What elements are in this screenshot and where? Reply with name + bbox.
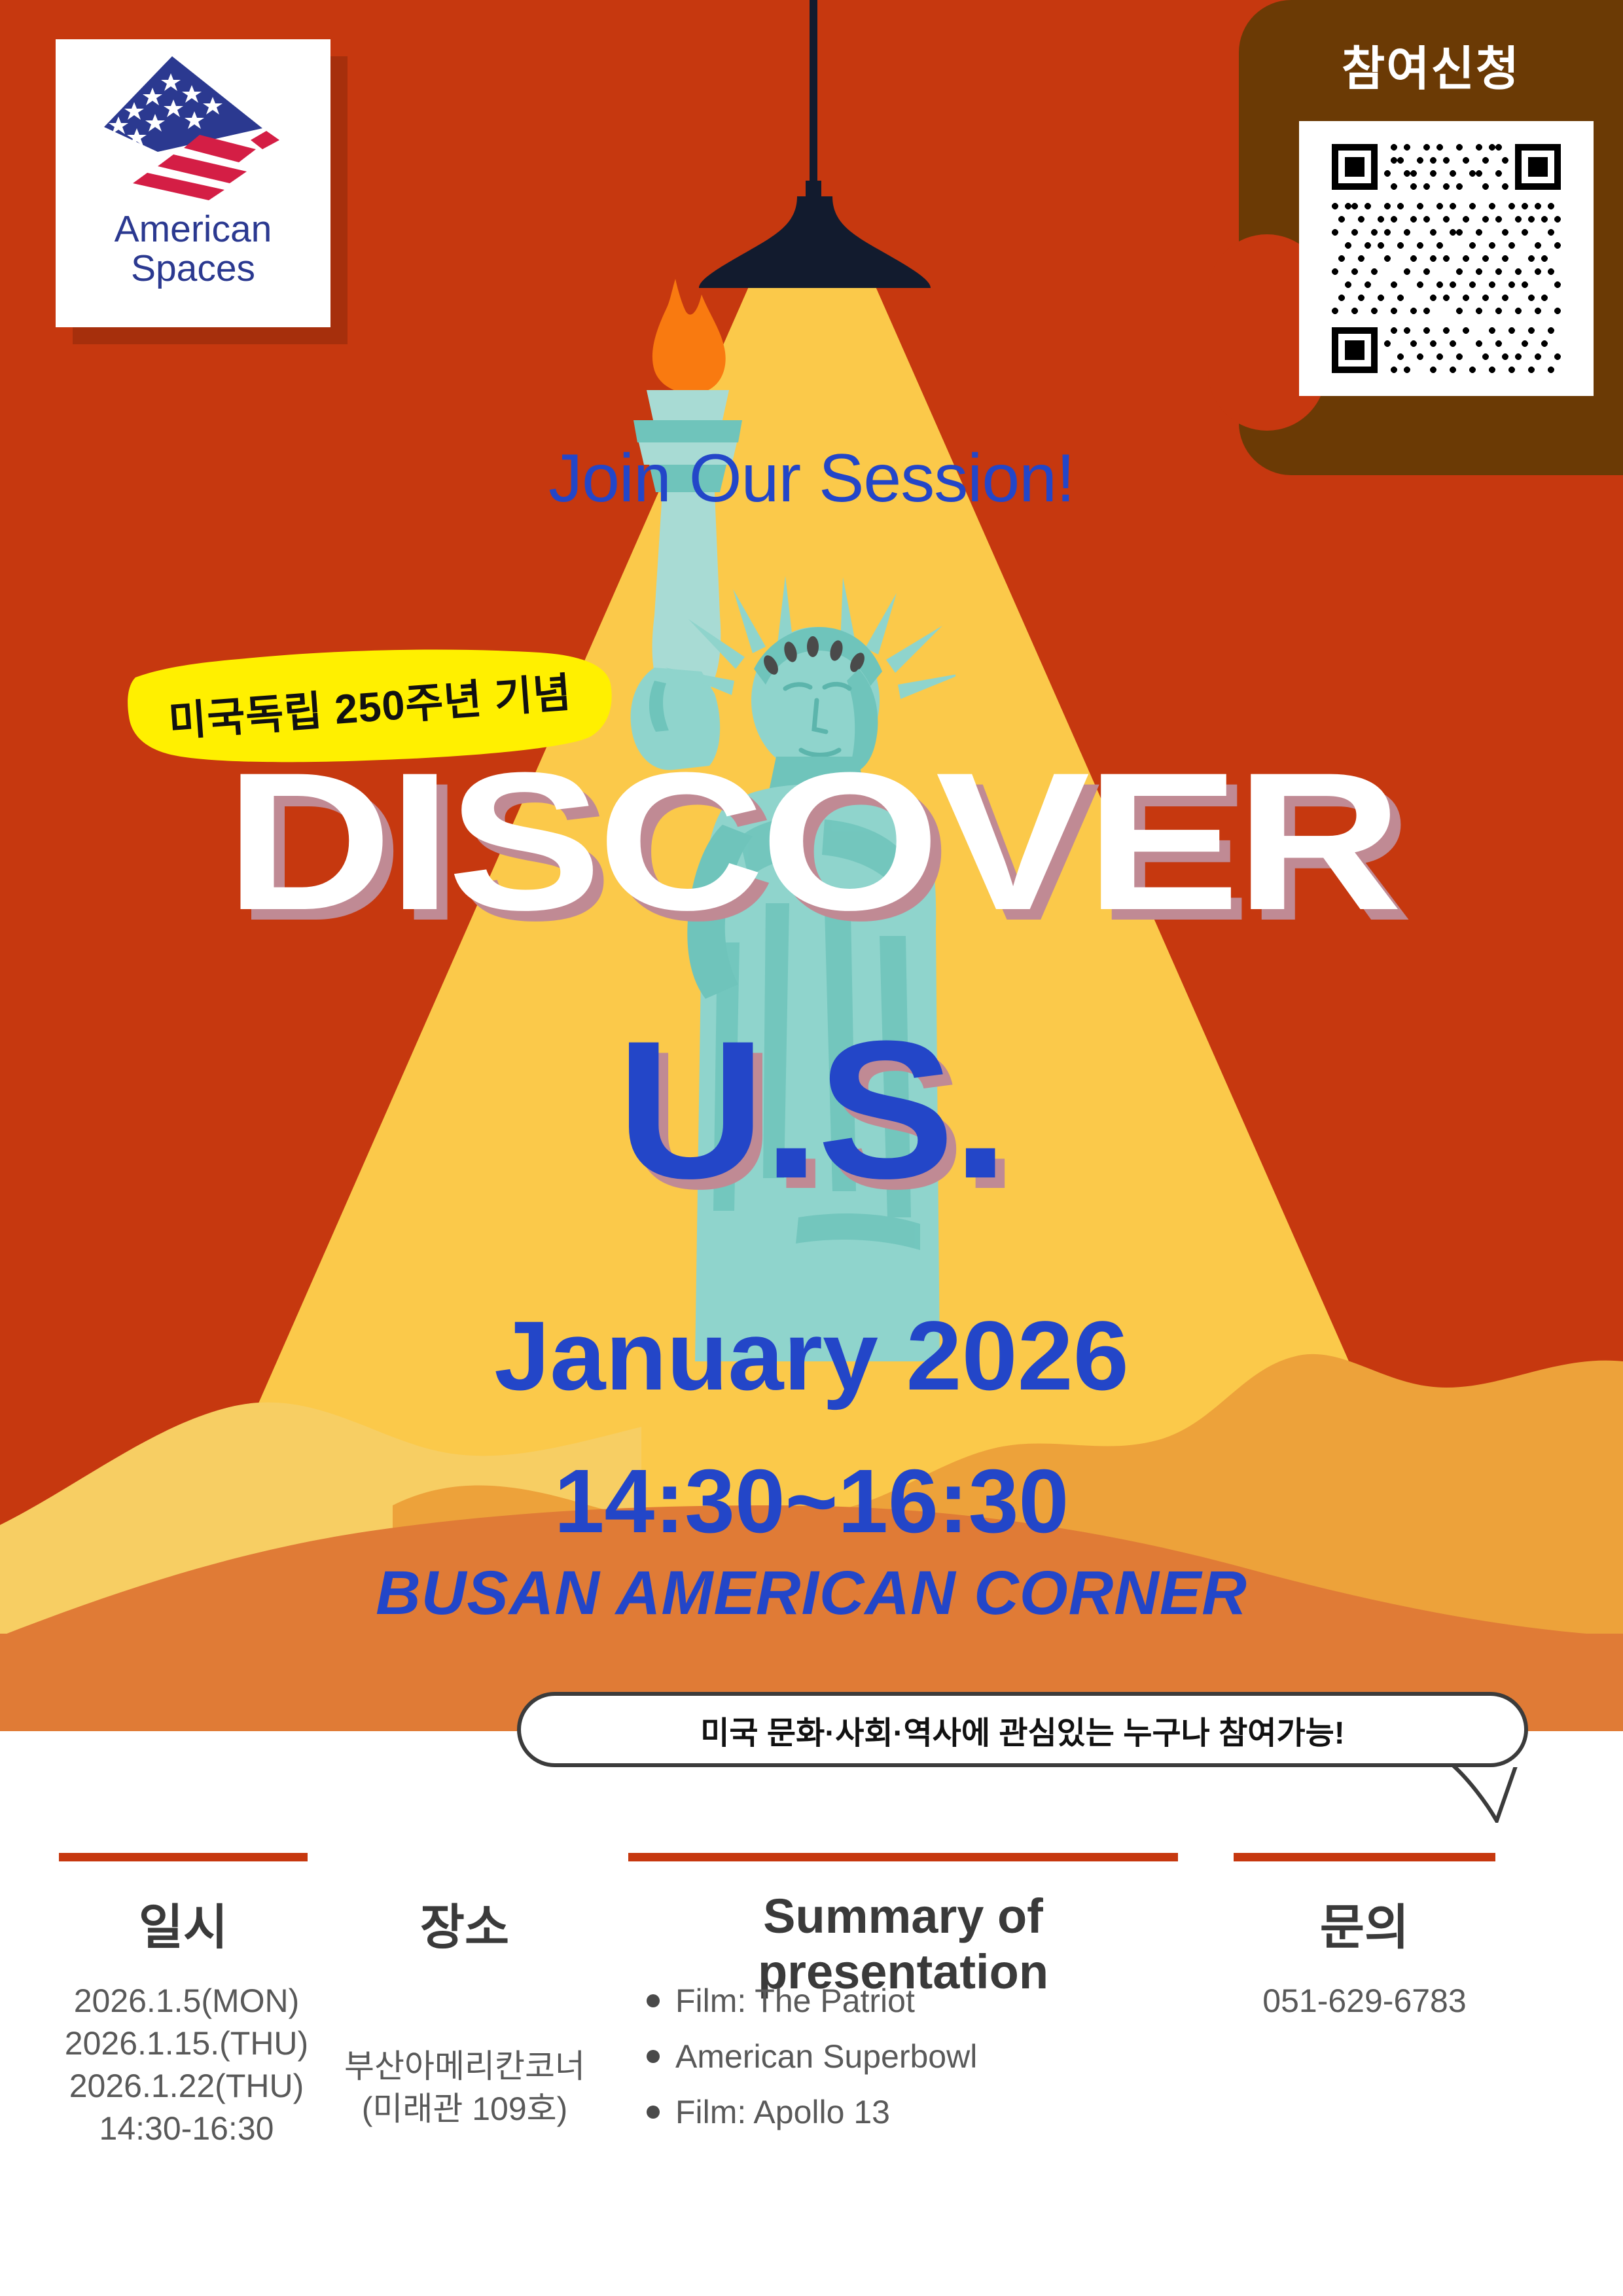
info-body-venue: 부산아메리칸코너 (미래관 109호): [327, 2045, 602, 2130]
logo-wordmark: American Spaces: [115, 210, 272, 289]
event-month: January 2026: [0, 1299, 1623, 1412]
list-item: Film: Apollo 13: [641, 2091, 1178, 2134]
list-item: Film: The Patriot: [641, 1980, 1178, 2022]
info-body-summary: Film: The Patriot American Superbowl Fil…: [641, 1980, 1178, 2147]
info-heading-contact: 문의: [1234, 1888, 1495, 1958]
join-session-label: Join Our Session!: [0, 440, 1623, 518]
info-body-contact: 051-629-6783: [1207, 1980, 1522, 2022]
contact-phone[interactable]: 051-629-6783: [1207, 1980, 1522, 2022]
us-flag-swoosh-icon: [95, 51, 291, 205]
title-discover: DISCOVER: [0, 743, 1623, 939]
logo-line-1: American: [115, 210, 272, 249]
date-line-1: 2026.1.5(MON): [46, 1980, 327, 2022]
qr-panel-title: 참여신청: [1239, 30, 1623, 99]
qr-code-container[interactable]: [1299, 121, 1594, 396]
hero-artwork: American Spaces 참여신청: [0, 0, 1623, 1731]
poster-root: American Spaces 참여신청: [0, 0, 1623, 2296]
callout-bubble: 미국 문화·사회·역사에 관심있는 누구나 참여가능!: [517, 1692, 1528, 1767]
info-section: 일시 2026.1.5(MON) 2026.1.15.(THU) 2026.1.…: [0, 1731, 1623, 2296]
logo-line-2: Spaces: [115, 249, 272, 289]
list-item: American Superbowl: [641, 2036, 1178, 2078]
info-heading-date: 일시: [59, 1888, 308, 1958]
info-heading-venue: 장소: [340, 1888, 589, 1958]
title-us: U.S.: [0, 1011, 1623, 1208]
summary-list: Film: The Patriot American Superbowl Fil…: [641, 1980, 1178, 2134]
venue-line-2: (미래관 109호): [327, 2088, 602, 2130]
rule-date: [59, 1853, 308, 1861]
rule-contact: [1234, 1853, 1495, 1861]
callout-tail: [1450, 1761, 1522, 1823]
callout-text: 미국 문화·사회·역사에 관심있는 누구나 참여가능!: [700, 1707, 1345, 1753]
qr-code-icon[interactable]: [1315, 137, 1577, 380]
event-time: 14:30~16:30: [0, 1450, 1623, 1554]
rule-summary: [628, 1853, 1178, 1861]
event-venue: BUSAN AMERICAN CORNER: [0, 1558, 1623, 1629]
lamp-cord: [810, 0, 817, 185]
date-line-2: 2026.1.15.(THU): [46, 2022, 327, 2065]
date-line-3: 2026.1.22(THU): [46, 2065, 327, 2108]
venue-line-1: 부산아메리칸코너: [327, 2045, 602, 2088]
date-line-4: 14:30-16:30: [46, 2108, 327, 2150]
info-body-date: 2026.1.5(MON) 2026.1.15.(THU) 2026.1.22(…: [46, 1980, 327, 2150]
american-spaces-logo-card: American Spaces: [56, 39, 330, 327]
